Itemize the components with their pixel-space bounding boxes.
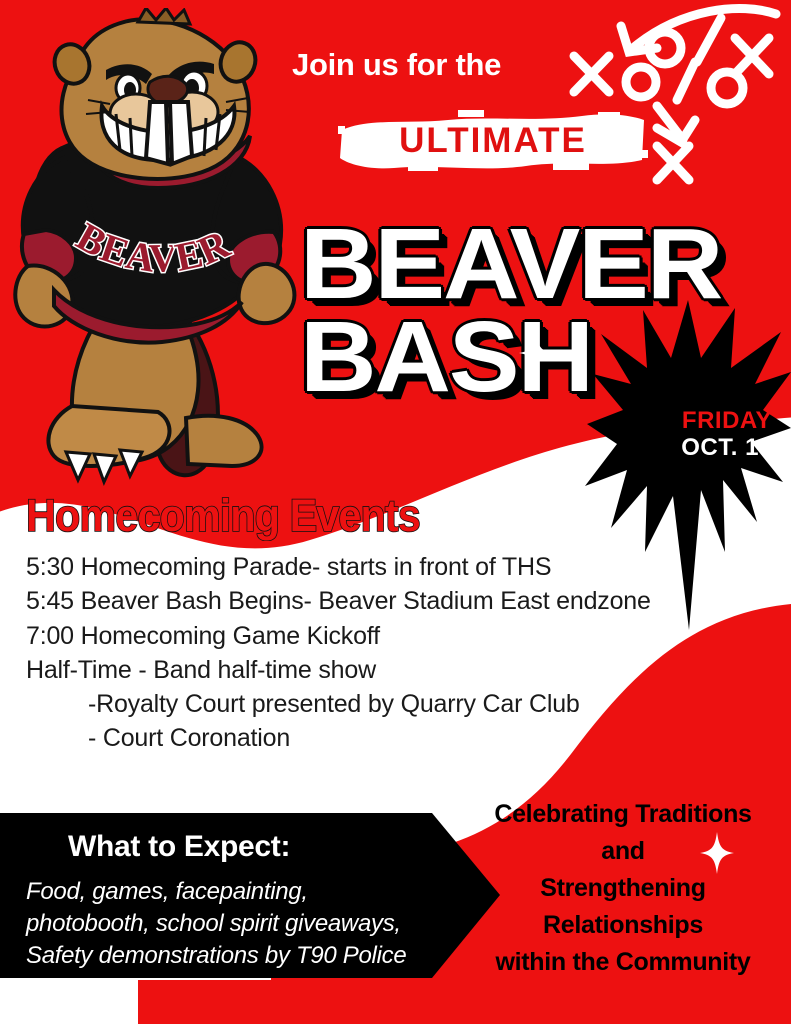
event-item: 7:00 Homecoming Game Kickoff	[26, 619, 696, 653]
sparkle-icon	[519, 332, 553, 374]
event-item: 5:30 Homecoming Parade- starts in front …	[26, 550, 696, 584]
what-to-expect-body: Food, games, facepainting, photobooth, s…	[26, 876, 476, 972]
event-day-label: FRIDAY	[672, 408, 782, 435]
tagline-line: within the Community	[455, 944, 791, 981]
event-date-label: OCT. 10	[672, 435, 782, 462]
ultimate-banner: ULTIMATE	[338, 110, 648, 172]
expect-line: Safety demonstrations by T90 Police	[26, 940, 476, 972]
page-title: BEAVER BASH	[300, 218, 721, 404]
events-list: 5:30 Homecoming Parade- starts in front …	[26, 550, 696, 756]
community-tagline: Celebrating Traditions and Strengthening…	[455, 796, 791, 981]
event-item: 5:45 Beaver Bash Begins- Beaver Stadium …	[26, 584, 696, 618]
what-to-expect-heading: What to Expect:	[68, 830, 290, 864]
flyer-poster: BEAVERS	[0, 0, 791, 1024]
title-line-2: BASH	[300, 311, 721, 404]
event-item: - Court Coronation	[26, 721, 696, 755]
events-heading: Homecoming Events	[26, 490, 420, 542]
red-bottom-bar	[138, 980, 791, 1024]
tagline-line: Celebrating Traditions	[455, 796, 791, 833]
expect-line: Food, games, facepainting,	[26, 876, 476, 908]
beaver-mascot-icon: BEAVERS	[10, 8, 330, 488]
tagline-line: Relationships	[455, 907, 791, 944]
tagline-line: and	[455, 833, 791, 870]
event-item: Half-Time - Band half-time show	[26, 653, 696, 687]
ultimate-label: ULTIMATE	[338, 110, 648, 172]
event-item: -Royalty Court presented by Quarry Car C…	[26, 687, 696, 721]
title-line-1: BEAVER	[300, 218, 721, 311]
xs-and-os-playbook-icon	[561, 0, 791, 210]
tagline-line: Strengthening	[455, 870, 791, 907]
join-us-text: Join us for the	[292, 47, 501, 83]
event-date-block: FRIDAY OCT. 10	[672, 408, 782, 462]
expect-line: photobooth, school spirit giveaways,	[26, 908, 476, 940]
